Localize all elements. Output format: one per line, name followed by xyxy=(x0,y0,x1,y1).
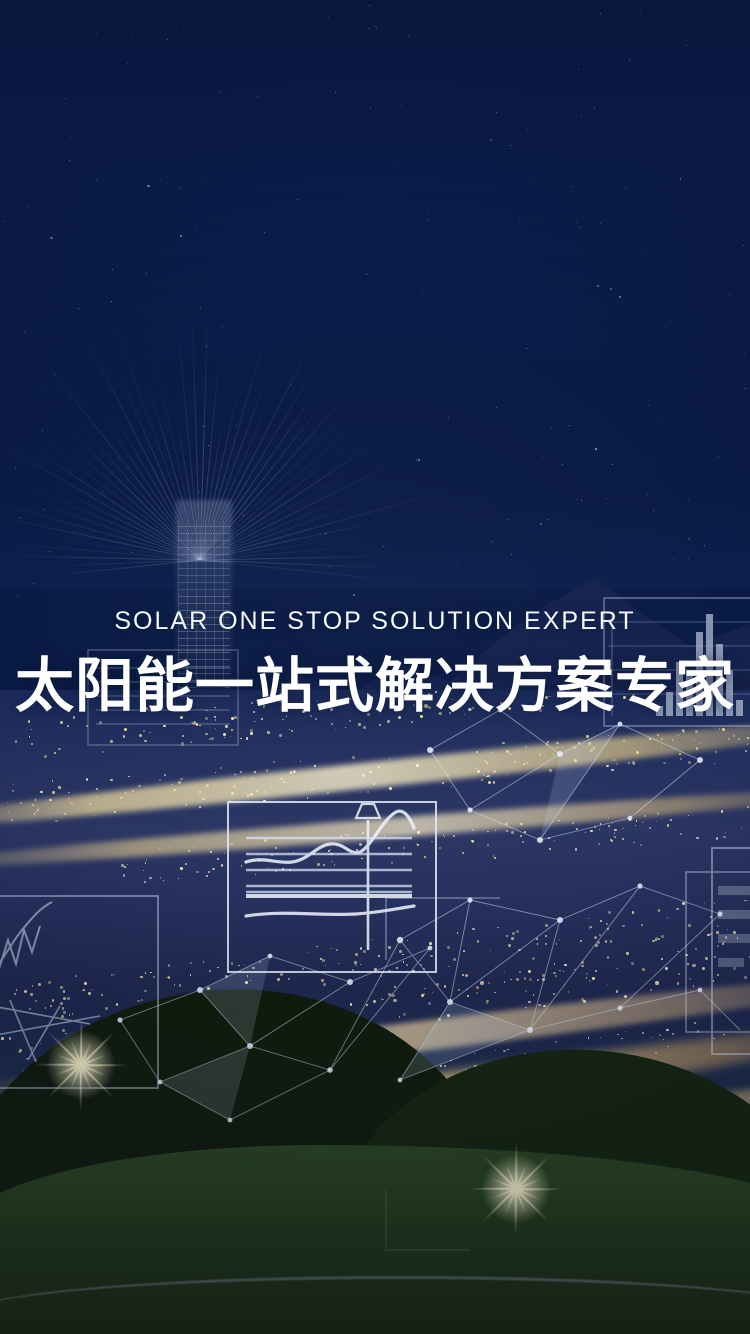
hero-eyebrow: SOLAR ONE STOP SOLUTION EXPERT xyxy=(0,604,750,638)
hero-headline: 太阳能一站式解决方案专家 xyxy=(0,650,750,722)
hero-text-block: SOLAR ONE STOP SOLUTION EXPERT 太阳能一站式解决方… xyxy=(0,604,750,722)
star-field xyxy=(0,0,750,620)
hero-banner: SOLAR ONE STOP SOLUTION EXPERT 太阳能一站式解决方… xyxy=(0,0,750,1334)
network-constellation-overlay xyxy=(0,690,750,1334)
